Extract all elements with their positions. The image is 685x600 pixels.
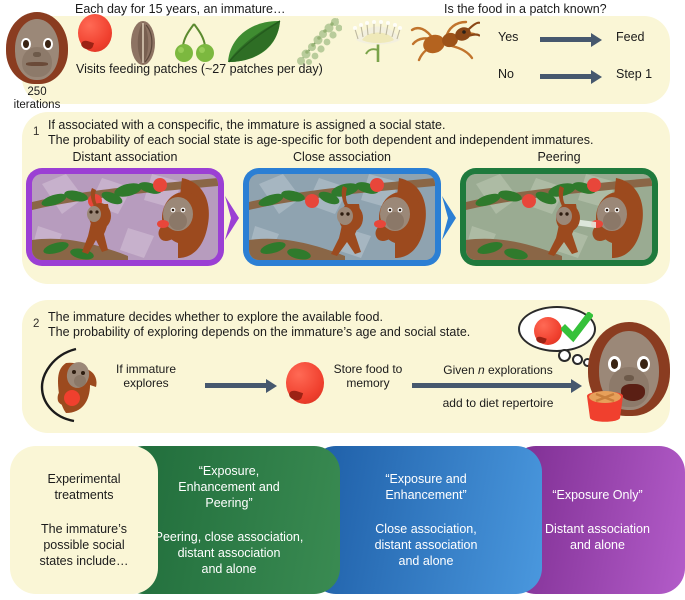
decision-row-no: No Step 1 xyxy=(498,67,658,85)
diet-repertoire-label: add to diet repertoire xyxy=(410,396,586,410)
eaten-fruit-icon xyxy=(584,388,626,424)
green-leaf-icon xyxy=(226,18,282,66)
step2-line1: The immature decides whether to explore … xyxy=(48,310,383,326)
arrow-yes-icon xyxy=(540,37,592,42)
white-flower-icon xyxy=(350,16,406,66)
figure-root: Each day for 15 years, an immature… Is t… xyxy=(0,0,685,600)
social-state-label-peering: Peering xyxy=(460,150,658,164)
treatment-body: Close association, distant association a… xyxy=(375,521,478,569)
patch-known-question: Is the food in a patch known? xyxy=(444,2,607,16)
explore-label: If immature explores xyxy=(96,362,196,390)
social-state-label-close: Close association xyxy=(243,150,441,164)
given-suffix: explorations xyxy=(485,363,553,377)
step2-line2: The probability of exploring depends on … xyxy=(48,325,470,341)
flowering-branch-icon xyxy=(290,16,342,66)
top-title: Each day for 15 years, an immature… xyxy=(75,2,286,16)
iterations-word: iterations xyxy=(14,99,61,111)
treatment-legend-body: The immature’s possible social states in… xyxy=(40,521,129,569)
thought-fruit-icon xyxy=(534,317,562,345)
stored-fruit-icon xyxy=(286,362,324,404)
chevron-distant-to-close-icon xyxy=(225,196,241,240)
decision-outcome-step1: Step 1 xyxy=(616,67,652,81)
orangutan-face-icon xyxy=(6,12,68,84)
treatment-legend-title: Experimental treatments xyxy=(48,471,121,503)
decision-condition-no: No xyxy=(498,67,514,81)
treatment-exposure-enhancement[interactable]: “Exposure and Enhancement” Close associa… xyxy=(310,446,542,594)
decision-row-yes: Yes Feed xyxy=(498,30,658,48)
thought-bubble xyxy=(518,306,596,352)
thought-dot-large xyxy=(558,349,571,362)
arrow-to-repertoire-icon xyxy=(412,383,572,388)
social-state-label-distant: Distant association xyxy=(26,150,224,164)
social-state-card-distant xyxy=(26,168,224,266)
step1-line1: If associated with a conspecific, the im… xyxy=(48,118,445,134)
treatment-title: “Exposure, Enhancement and Peering” xyxy=(178,463,279,511)
social-state-card-close xyxy=(243,168,441,266)
chevron-close-to-peering-icon xyxy=(442,196,458,240)
green-cherries-icon xyxy=(174,20,216,64)
treatment-title: “Exposure Only” xyxy=(552,487,642,503)
food-icon-row xyxy=(78,18,428,66)
held-fruit-icon xyxy=(64,390,80,406)
thought-dot-medium xyxy=(572,354,583,365)
experimental-treatments-strip: “Exposure Only” Distant association and … xyxy=(10,446,675,594)
store-memory-label: Store food to memory xyxy=(330,362,406,390)
treatment-legend: Experimental treatments The immature’s p… xyxy=(10,446,158,594)
treatment-body: Peering, close association, distant asso… xyxy=(155,529,304,577)
decision-condition-yes: Yes xyxy=(498,30,518,44)
decision-outcome-feed: Feed xyxy=(616,30,645,44)
arrow-explore-to-store-icon xyxy=(205,383,267,388)
given-n-explorations-label: Given n explorations xyxy=(418,363,578,377)
step2-number: 2 xyxy=(33,318,39,330)
step1-line2: The probability of each social state is … xyxy=(48,133,593,149)
brown-seed-pod-icon xyxy=(126,18,160,66)
iterations-count: 250 xyxy=(27,86,46,98)
red-fruit-icon xyxy=(78,14,112,52)
treatment-body: Distant association and alone xyxy=(545,521,650,553)
given-prefix: Given xyxy=(443,363,478,377)
food-caption: Visits feeding patches (~27 patches per … xyxy=(76,62,323,76)
iterations-block: 250 iterations xyxy=(2,12,72,112)
social-state-card-peering xyxy=(460,168,658,266)
given-n-italic: n xyxy=(478,363,485,377)
step1-number: 1 xyxy=(33,126,39,138)
ant-icon xyxy=(408,16,480,66)
arrow-no-icon xyxy=(540,74,592,79)
treatment-title: “Exposure and Enhancement” xyxy=(385,471,466,503)
iterations-count-label: 250 iterations xyxy=(2,86,72,112)
